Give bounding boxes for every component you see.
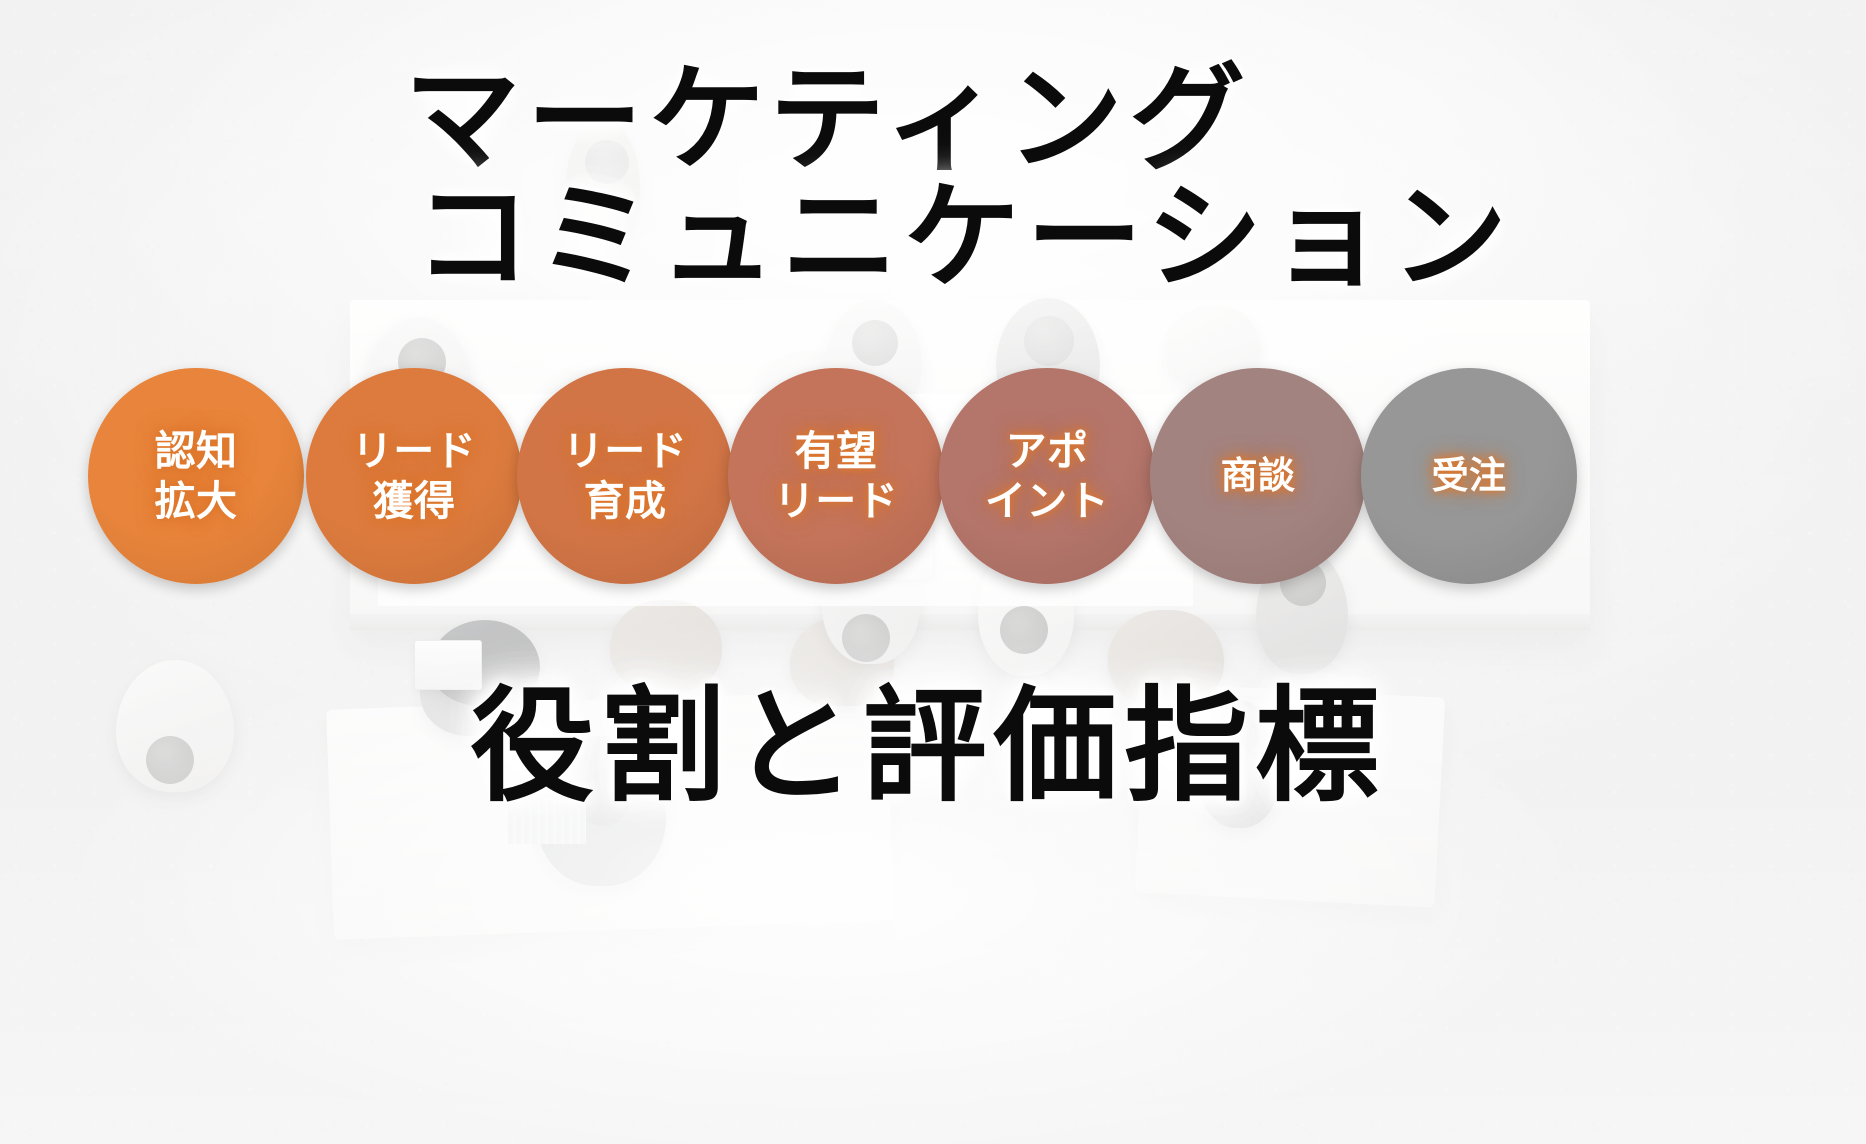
funnel-stage-label-line2: イント bbox=[985, 476, 1109, 526]
slide-canvas: マーケティング コミュニケーション 認知拡大リード獲得リード育成有望リードアポイ… bbox=[0, 0, 1866, 1144]
funnel-stage-appointment[interactable]: アポイント bbox=[939, 368, 1155, 584]
funnel-stage-row: 認知拡大リード獲得リード育成有望リードアポイント商談受注 bbox=[44, 368, 1834, 600]
funnel-stage-negotiation[interactable]: 商談 bbox=[1150, 368, 1366, 584]
funnel-stage-label-line1: 商談 bbox=[1221, 453, 1296, 498]
funnel-stage-hot-lead[interactable]: 有望リード bbox=[728, 368, 944, 584]
funnel-stage-label-line1: リード bbox=[563, 426, 687, 476]
funnel-stage-label-line1: 認知 bbox=[155, 426, 238, 476]
funnel-stage-label-line2: 獲得 bbox=[373, 476, 456, 526]
funnel-stage-label-line2: リード bbox=[774, 476, 898, 526]
funnel-stage-label-line1: 受注 bbox=[1432, 453, 1507, 498]
funnel-stage-label-line1: アポ bbox=[1006, 426, 1089, 476]
funnel-stage-label-line1: 有望 bbox=[795, 426, 878, 476]
funnel-stage-lead-nurture[interactable]: リード育成 bbox=[517, 368, 733, 584]
funnel-stage-label-line1: リード bbox=[352, 426, 476, 476]
funnel-stage-lead-gen[interactable]: リード獲得 bbox=[306, 368, 522, 584]
funnel-stage-label-line2: 拡大 bbox=[155, 476, 238, 526]
funnel-stage-awareness[interactable]: 認知拡大 bbox=[88, 368, 304, 584]
funnel-stage-label-line2: 育成 bbox=[584, 476, 667, 526]
funnel-stage-order-won[interactable]: 受注 bbox=[1361, 368, 1577, 584]
